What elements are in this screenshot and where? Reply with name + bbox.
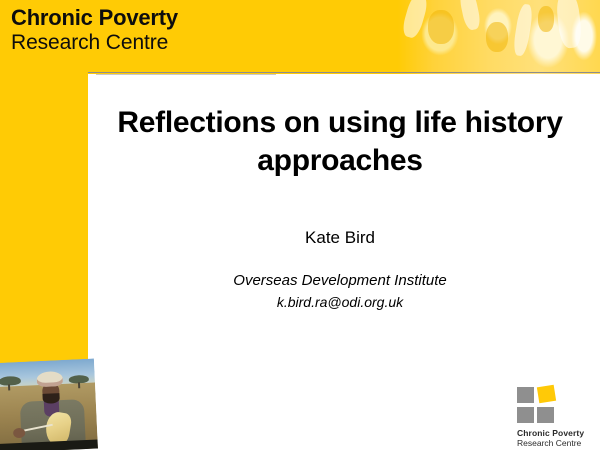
- corner-photo: [0, 359, 98, 450]
- title-slide: Chronic Poverty Research Centre Reflecti…: [0, 0, 600, 450]
- corner-photo-person-turban: [36, 371, 63, 387]
- header-divider-secondary: [96, 74, 276, 75]
- author-affiliation-block: Overseas Development Institute k.bird.ra…: [96, 270, 584, 312]
- author-email: k.bird.ra@odi.org.uk: [96, 292, 584, 312]
- author-name: Kate Bird: [96, 228, 584, 248]
- logo-square-top-right-highlight: [537, 385, 556, 403]
- header-photo-shadow: [428, 10, 454, 44]
- header-photo-shadow: [486, 22, 508, 52]
- corner-photo-tree-trunk: [78, 382, 80, 388]
- affiliation-organization: Overseas Development Institute: [96, 270, 584, 292]
- cprc-logo: Chronic Poverty Research Centre: [513, 386, 597, 448]
- header-photo: [398, 0, 600, 74]
- logo-square-bottom-right: [537, 407, 554, 423]
- wordmark-line-1: Chronic Poverty: [11, 6, 178, 31]
- logo-squares: [517, 386, 559, 424]
- wordmark-line-2: Research Centre: [11, 31, 178, 55]
- organization-wordmark: Chronic Poverty Research Centre: [11, 6, 178, 54]
- logo-square-top-left: [517, 387, 534, 403]
- left-accent-column: [0, 0, 88, 372]
- logo-text: Chronic Poverty Research Centre: [517, 428, 597, 448]
- corner-photo-tree-trunk: [8, 384, 10, 390]
- slide-title: Reflections on using life history approa…: [96, 104, 584, 181]
- header-divider: [88, 72, 600, 73]
- header-photo-shadow: [538, 6, 554, 32]
- logo-text-line-1: Chronic Poverty: [517, 428, 597, 438]
- logo-square-bottom-left: [517, 407, 534, 423]
- logo-text-line-2: Research Centre: [517, 438, 597, 448]
